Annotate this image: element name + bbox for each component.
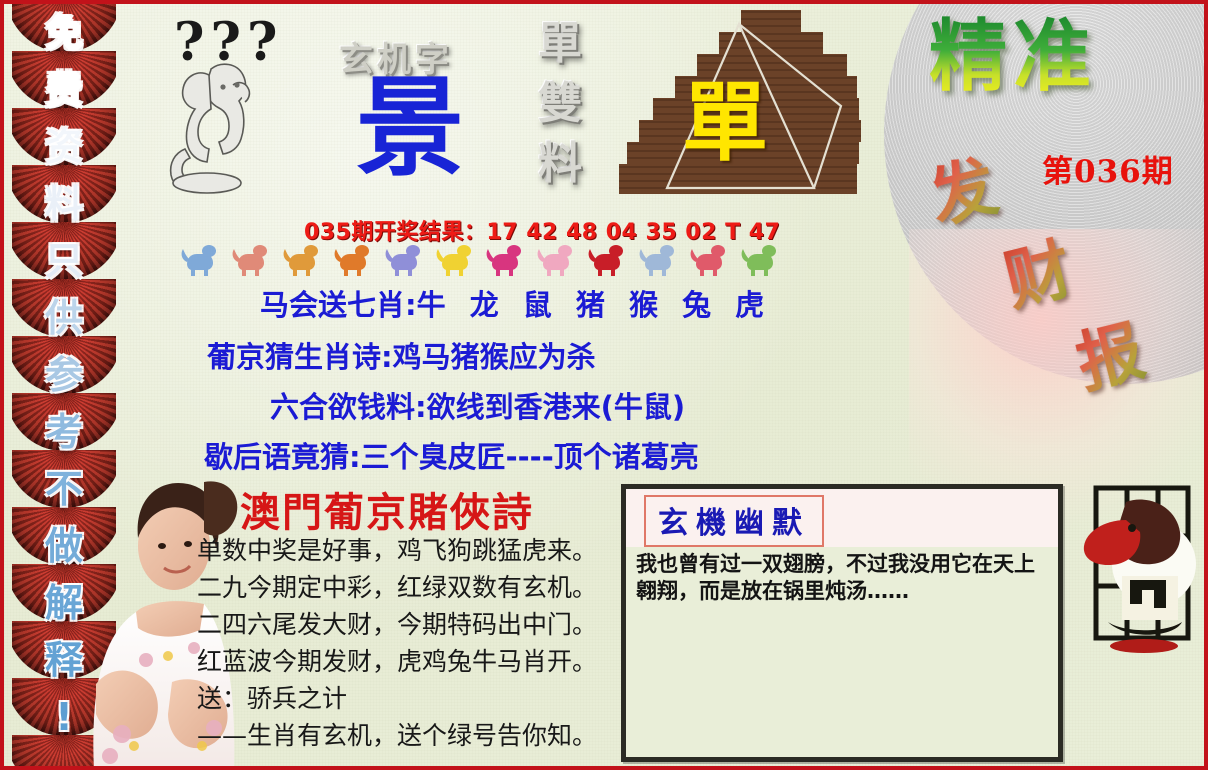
banner-char-1: 费 <box>12 67 116 113</box>
red-bird-emblem-icon <box>1082 480 1204 662</box>
left-vertical-banner: 免费资料只供参考不做解释! <box>12 4 116 766</box>
zodiac-狗-icon <box>688 238 728 278</box>
zodiac-猴-icon <box>586 238 626 278</box>
banner-char-2: 资 <box>12 124 116 170</box>
blue-line-4-value: 三个臭皮匠----顶个诸葛亮 <box>361 440 699 474</box>
zodiac-animal-strip <box>179 232 779 278</box>
zodiac-兔-icon <box>332 238 372 278</box>
poem-line-6: ——生肖有玄机，送个绿号告你知。 <box>197 717 617 754</box>
zodiac-蛇-icon <box>434 238 474 278</box>
zodiac-龙-icon <box>383 238 423 278</box>
issue-number: 第036期 <box>1042 146 1174 191</box>
banner-char-9: 做 <box>12 523 116 569</box>
blue-line-1: 马会送七肖:牛 龙 鼠 猪 猴 兔 虎 <box>260 282 771 324</box>
poem-line-3: 二四六尾发大财，今期特码出中门。 <box>197 606 617 643</box>
banner-char-0: 免 <box>12 10 116 56</box>
blue-line-2: 葡京猜生肖诗:鸡马猪猴应为杀 <box>207 334 596 376</box>
zodiac-虎-icon <box>281 238 321 278</box>
banner-char-11: 释 <box>12 637 116 683</box>
poem-line-1: 单数中奖是好事，鸡飞狗跳猛虎来。 <box>197 532 617 569</box>
jingzhun-title: 精准 <box>929 16 1097 98</box>
zodiac-鼠-icon <box>179 238 219 278</box>
blue-line-3-value: 欲线到香港来(牛鼠) <box>427 390 686 424</box>
banner-char-12: ! <box>12 694 116 740</box>
banner-char-5: 供 <box>12 295 116 341</box>
zodiac-鸡-icon <box>637 238 677 278</box>
zodiac-马-icon <box>484 238 524 278</box>
lion-statue-icon <box>149 29 279 199</box>
humor-box-title: 玄機幽默 <box>644 495 824 547</box>
blue-line-2-value: 鸡马猪猴应为杀 <box>393 340 596 374</box>
humor-box-text: 我也曾有过一双翅膀，不过我没用它在天上翱翔，而是放在锅里炖汤…… <box>636 551 1048 605</box>
zodiac-羊-icon <box>535 238 575 278</box>
zodiac-牛-icon <box>230 238 270 278</box>
blue-line-4: 歇后语竟猜:三个臭皮匠----顶个诸葛亮 <box>204 434 699 476</box>
banner-char-7: 考 <box>12 409 116 455</box>
lottery-poster: 精准 第036期 发 财 报 免费资料只供参考不做解释! ??? 玄机字 景 單… <box>0 0 1208 770</box>
xuanjizi-character: 景 <box>356 74 464 182</box>
banner-char-3: 料 <box>12 181 116 227</box>
blue-line-3-label: 六合欲钱料: <box>270 390 427 424</box>
blue-line-2-label: 葡京猜生肖诗: <box>207 340 393 374</box>
blue-line-1-label: 马会送七肖: <box>260 288 417 322</box>
banner-char-10: 解 <box>12 580 116 626</box>
humor-box: 玄機幽默 我也曾有过一双翅膀，不过我没用它在天上翱翔，而是放在锅里炖汤…… <box>621 484 1063 762</box>
dan-shuang-liao-label: 單雙料 <box>532 14 588 194</box>
poem-line-4: 红蓝波今期发财，虎鸡兔牛马肖开。 <box>197 643 617 680</box>
pyramid-character: 單 <box>682 80 768 166</box>
banner-char-8: 不 <box>12 466 116 512</box>
poem-line-5: 送：骄兵之计 <box>197 680 617 717</box>
zodiac-猪-icon <box>739 238 779 278</box>
poem-title: 澳門葡京賭俠詩 <box>240 480 534 538</box>
blue-line-3: 六合欲钱料:欲线到香港来(牛鼠) <box>270 384 685 426</box>
banner-char-4: 只 <box>12 238 116 284</box>
poem-lines: 单数中奖是好事，鸡飞狗跳猛虎来。二九今期定中彩，红绿双数有玄机。二四六尾发大财，… <box>197 532 617 754</box>
poem-line-2: 二九今期定中彩，红绿双数有玄机。 <box>197 569 617 606</box>
blue-line-1-value: 牛 龙 鼠 猪 猴 兔 虎 <box>417 288 772 322</box>
banner-char-6: 参 <box>12 352 116 398</box>
